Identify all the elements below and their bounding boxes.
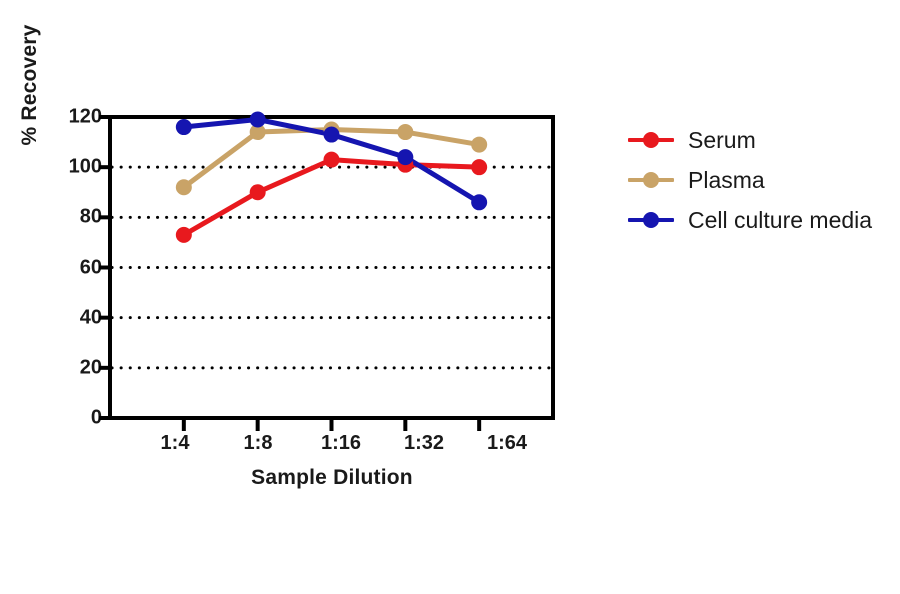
circle-marker-icon [628, 209, 674, 231]
legend-label: Plasma [688, 169, 765, 192]
data-point-marker [471, 137, 487, 153]
data-point-marker [397, 124, 413, 140]
series-line [184, 160, 479, 235]
legend-item-cell-culture-media[interactable]: Cell culture media [628, 200, 872, 240]
chart-figure: % Recovery 120 100 80 60 40 20 0 1:4 1:8… [0, 0, 900, 594]
data-series-layer [176, 112, 487, 243]
data-point-marker [176, 227, 192, 243]
legend-dot [643, 172, 659, 188]
legend-item-serum[interactable]: Serum [628, 120, 872, 160]
plot-area [0, 0, 900, 594]
data-point-marker [250, 112, 266, 128]
circle-marker-icon [628, 129, 674, 151]
data-point-marker [250, 184, 266, 200]
data-point-marker [471, 159, 487, 175]
legend: Serum Plasma Cell culture media [628, 120, 872, 240]
circle-marker-icon [628, 169, 674, 191]
data-point-marker [324, 127, 340, 143]
legend-label: Cell culture media [688, 209, 872, 232]
legend-label: Serum [688, 129, 756, 152]
data-point-marker [176, 119, 192, 135]
gridlines [112, 167, 552, 368]
data-point-marker [471, 194, 487, 210]
data-point-marker [176, 179, 192, 195]
legend-dot [643, 132, 659, 148]
data-point-marker [397, 149, 413, 165]
data-point-marker [324, 152, 340, 168]
legend-dot [643, 212, 659, 228]
legend-item-plasma[interactable]: Plasma [628, 160, 872, 200]
